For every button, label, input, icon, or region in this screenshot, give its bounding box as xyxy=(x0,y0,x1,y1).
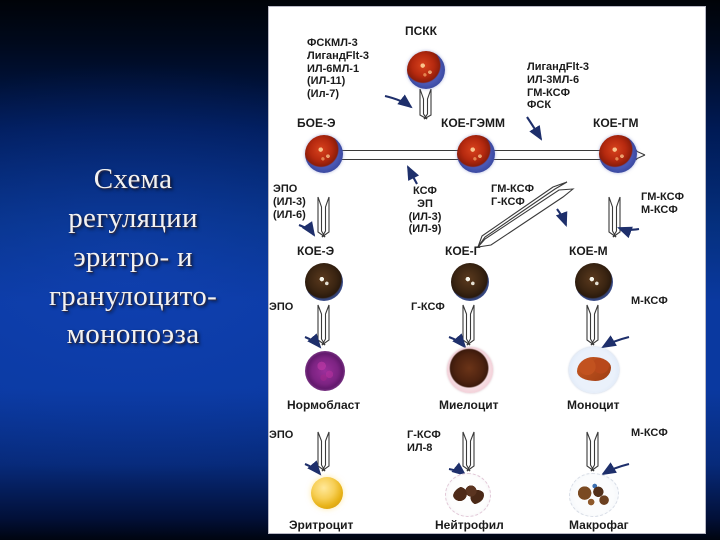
label-neutrophil: Нейтрофил xyxy=(435,519,504,533)
arrow-pskk-to-koe-gemm xyxy=(420,89,431,119)
cytokine-line: ЛигандFlt-3 xyxy=(307,50,369,63)
arrow-monocyte-to-macrophage xyxy=(587,432,598,471)
label-koe-gm: КОЕ-ГМ xyxy=(593,117,638,131)
cytokine-line: ЭПО xyxy=(269,301,293,314)
cell-monocyte xyxy=(569,347,619,393)
cell-koe-gemm xyxy=(457,135,495,173)
pointer-ksf-group xyxy=(408,167,417,184)
page-title: Схема регуляции эритро- и гранулоцито- м… xyxy=(8,160,258,354)
pointer-mksf-monocyte xyxy=(603,337,629,347)
title-line-2: регуляции xyxy=(8,199,258,238)
cytokines-pskk-to-gemm: ФСКМЛ-3 ЛигандFlt-3 ИЛ-6МЛ-1 (ИЛ-11) (Ил… xyxy=(307,37,369,101)
cytokine-line: (Ил-7) xyxy=(307,88,369,101)
cytokine-line: ФСК xyxy=(527,99,589,112)
cytokine-line: М-КСФ xyxy=(641,204,684,217)
label-normoblast: Нормобласт xyxy=(287,399,360,413)
cytokines-koe-e-to-normoblast: ЭПО xyxy=(269,301,293,314)
label-erythrocyte: Эритроцит xyxy=(289,519,353,533)
cytokine-line: ЛигандFlt-3 xyxy=(527,61,589,74)
pointer-mksf-macrophage xyxy=(603,464,629,474)
arrow-normoblast-to-erythrocyte xyxy=(318,432,329,471)
label-koe-gemm: КОЕ-ГЭММ xyxy=(441,117,505,131)
cell-pskk xyxy=(407,51,445,89)
label-boe-e: БОЕ-Э xyxy=(297,117,336,131)
cytokine-line: Г-КСФ xyxy=(411,301,445,314)
pointer-gmksf-gksf-group xyxy=(557,209,566,225)
arrow-koe-m-to-monocyte xyxy=(587,305,598,345)
cell-koe-e xyxy=(305,263,343,301)
cytokines-monocyte-to-macrophage: М-КСФ xyxy=(631,427,668,440)
cytokine-line: ИЛ-3МЛ-6 xyxy=(527,74,589,87)
cytokine-line: ИЛ-8 xyxy=(407,442,441,455)
cytokines-koe-m-to-monocyte: М-КСФ xyxy=(631,295,668,308)
cytokines-gemm-to-gm: ЛигандFlt-3 ИЛ-3МЛ-6 ГМ-КСФ ФСК xyxy=(527,61,589,112)
pointer-pskk-group xyxy=(385,96,411,107)
cytokine-line: ЭПО xyxy=(273,183,306,196)
cytokine-line: М-КСФ xyxy=(631,427,668,440)
cell-erythrocyte xyxy=(311,477,343,509)
cytokine-line: (ИЛ-3) xyxy=(273,196,306,209)
cytokines-gemm-to-boe: КСФ ЭП (ИЛ-3) (ИЛ-9) xyxy=(397,185,453,236)
cytokine-line: ЭП xyxy=(397,198,453,211)
label-koe-g: КОЕ-Г xyxy=(445,245,480,259)
cell-koe-m xyxy=(575,263,613,301)
cytokine-line: ГМ-КСФ xyxy=(641,191,684,204)
arrow-koe-e-to-normoblast-lower xyxy=(318,305,329,345)
cytokines-koe-g-to-myelocyte: Г-КСФ xyxy=(411,301,445,314)
pointer-gmksf-mksf-group xyxy=(619,228,639,230)
pointer-gemm-gm-group xyxy=(527,117,541,139)
cytokine-line: КСФ xyxy=(397,185,453,198)
cytokine-line: Г-КСФ xyxy=(491,196,534,209)
cytokine-line: ЭПО xyxy=(269,429,293,442)
arrow-koe-g-to-myelocyte xyxy=(463,305,474,345)
cytokine-line: (ИЛ-9) xyxy=(397,223,453,236)
cytokine-line: ГМ-КСФ xyxy=(527,87,589,100)
cell-myelocyte xyxy=(447,347,493,393)
label-koe-e: КОЕ-Э xyxy=(297,245,334,259)
label-monocyte: Моноцит xyxy=(567,399,620,413)
cell-normoblast xyxy=(305,351,345,391)
pointer-epo-group xyxy=(299,225,314,235)
cytokines-normoblast-to-erythrocyte: ЭПО xyxy=(269,429,293,442)
title-line-5: монопоэза xyxy=(8,315,258,354)
cytokine-line: (ИЛ-11) xyxy=(307,75,369,88)
arrow-koe-gm-to-koe-m xyxy=(609,197,620,237)
arrow-koe-e-to-normoblast xyxy=(318,197,329,237)
cytokine-line: ИЛ-6МЛ-1 xyxy=(307,63,369,76)
cell-koe-gm xyxy=(599,135,637,173)
label-pskk: ПСКК xyxy=(405,25,437,39)
title-line-3: эритро- и xyxy=(8,238,258,277)
cytokines-boe-to-koe-e: ЭПО (ИЛ-3) (ИЛ-6) xyxy=(273,183,306,221)
cytokine-line: Г-КСФ xyxy=(407,429,441,442)
cytokines-gm-to-koe-m: ГМ-КСФ М-КСФ xyxy=(641,191,684,217)
cytokine-line: М-КСФ xyxy=(631,295,668,308)
cell-boe-e xyxy=(305,135,343,173)
diagram-panel: ПСКК БОЕ-Э КОЕ-ГЭММ КОЕ-ГМ КОЕ-Э КОЕ-Г К… xyxy=(268,6,706,534)
label-macrophage: Макрофаг xyxy=(569,519,629,533)
arrow-myelocyte-to-neutrophil xyxy=(463,432,474,471)
cytokines-myelocyte-to-neutrophil: Г-КСФ ИЛ-8 xyxy=(407,429,441,455)
label-koe-m: КОЕ-М xyxy=(569,245,608,259)
cytokine-line: (ИЛ-3) xyxy=(397,211,453,224)
cytokines-gm-to-koe-g: ГМ-КСФ Г-КСФ xyxy=(491,183,534,209)
title-line-1: Схема xyxy=(8,160,258,199)
cytokine-line: (ИЛ-6) xyxy=(273,209,306,222)
cytokine-line: ГМ-КСФ xyxy=(491,183,534,196)
cytokine-line: ФСКМЛ-3 xyxy=(307,37,369,50)
cell-koe-g xyxy=(451,263,489,301)
label-myelocyte: Миелоцит xyxy=(439,399,498,413)
cell-neutrophil xyxy=(445,473,491,517)
title-line-4: гранулоцито- xyxy=(8,277,258,316)
